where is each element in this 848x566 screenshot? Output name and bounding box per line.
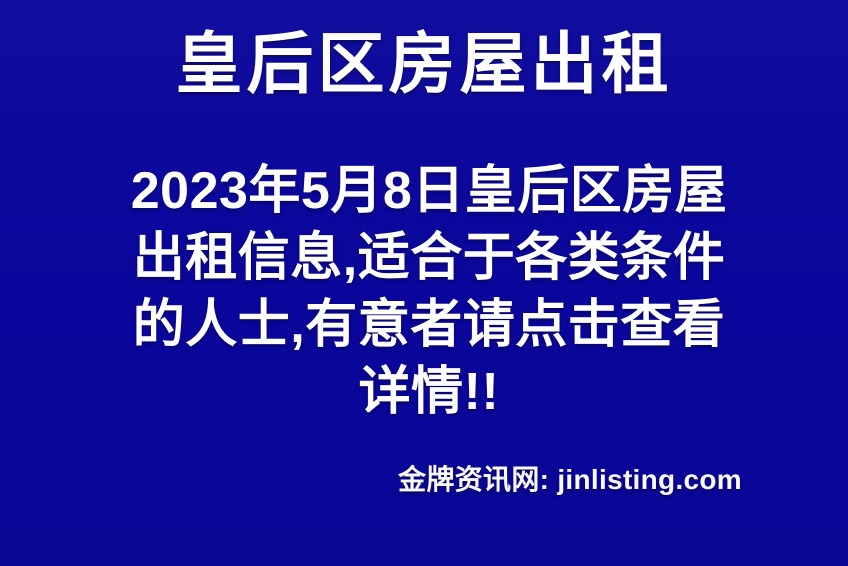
body-line-2: 出租信息,适合于各类条件 — [104, 225, 754, 292]
body-line-4: 详情!! — [104, 359, 754, 426]
page-title: 皇后区房屋出租 — [0, 26, 848, 104]
body-line-1: 2023年5月8日皇后区房屋 — [104, 158, 754, 225]
announcement-body: 2023年5月8日皇后区房屋 出租信息,适合于各类条件 的人士,有意者请点击查看… — [104, 158, 754, 426]
source-website-credit: 金牌资讯网: jinlisting.com — [398, 458, 742, 498]
rental-announcement-poster: 皇后区房屋出租 2023年5月8日皇后区房屋 出租信息,适合于各类条件 的人士,… — [0, 0, 848, 566]
body-line-3: 的人士,有意者请点击查看 — [104, 292, 754, 359]
